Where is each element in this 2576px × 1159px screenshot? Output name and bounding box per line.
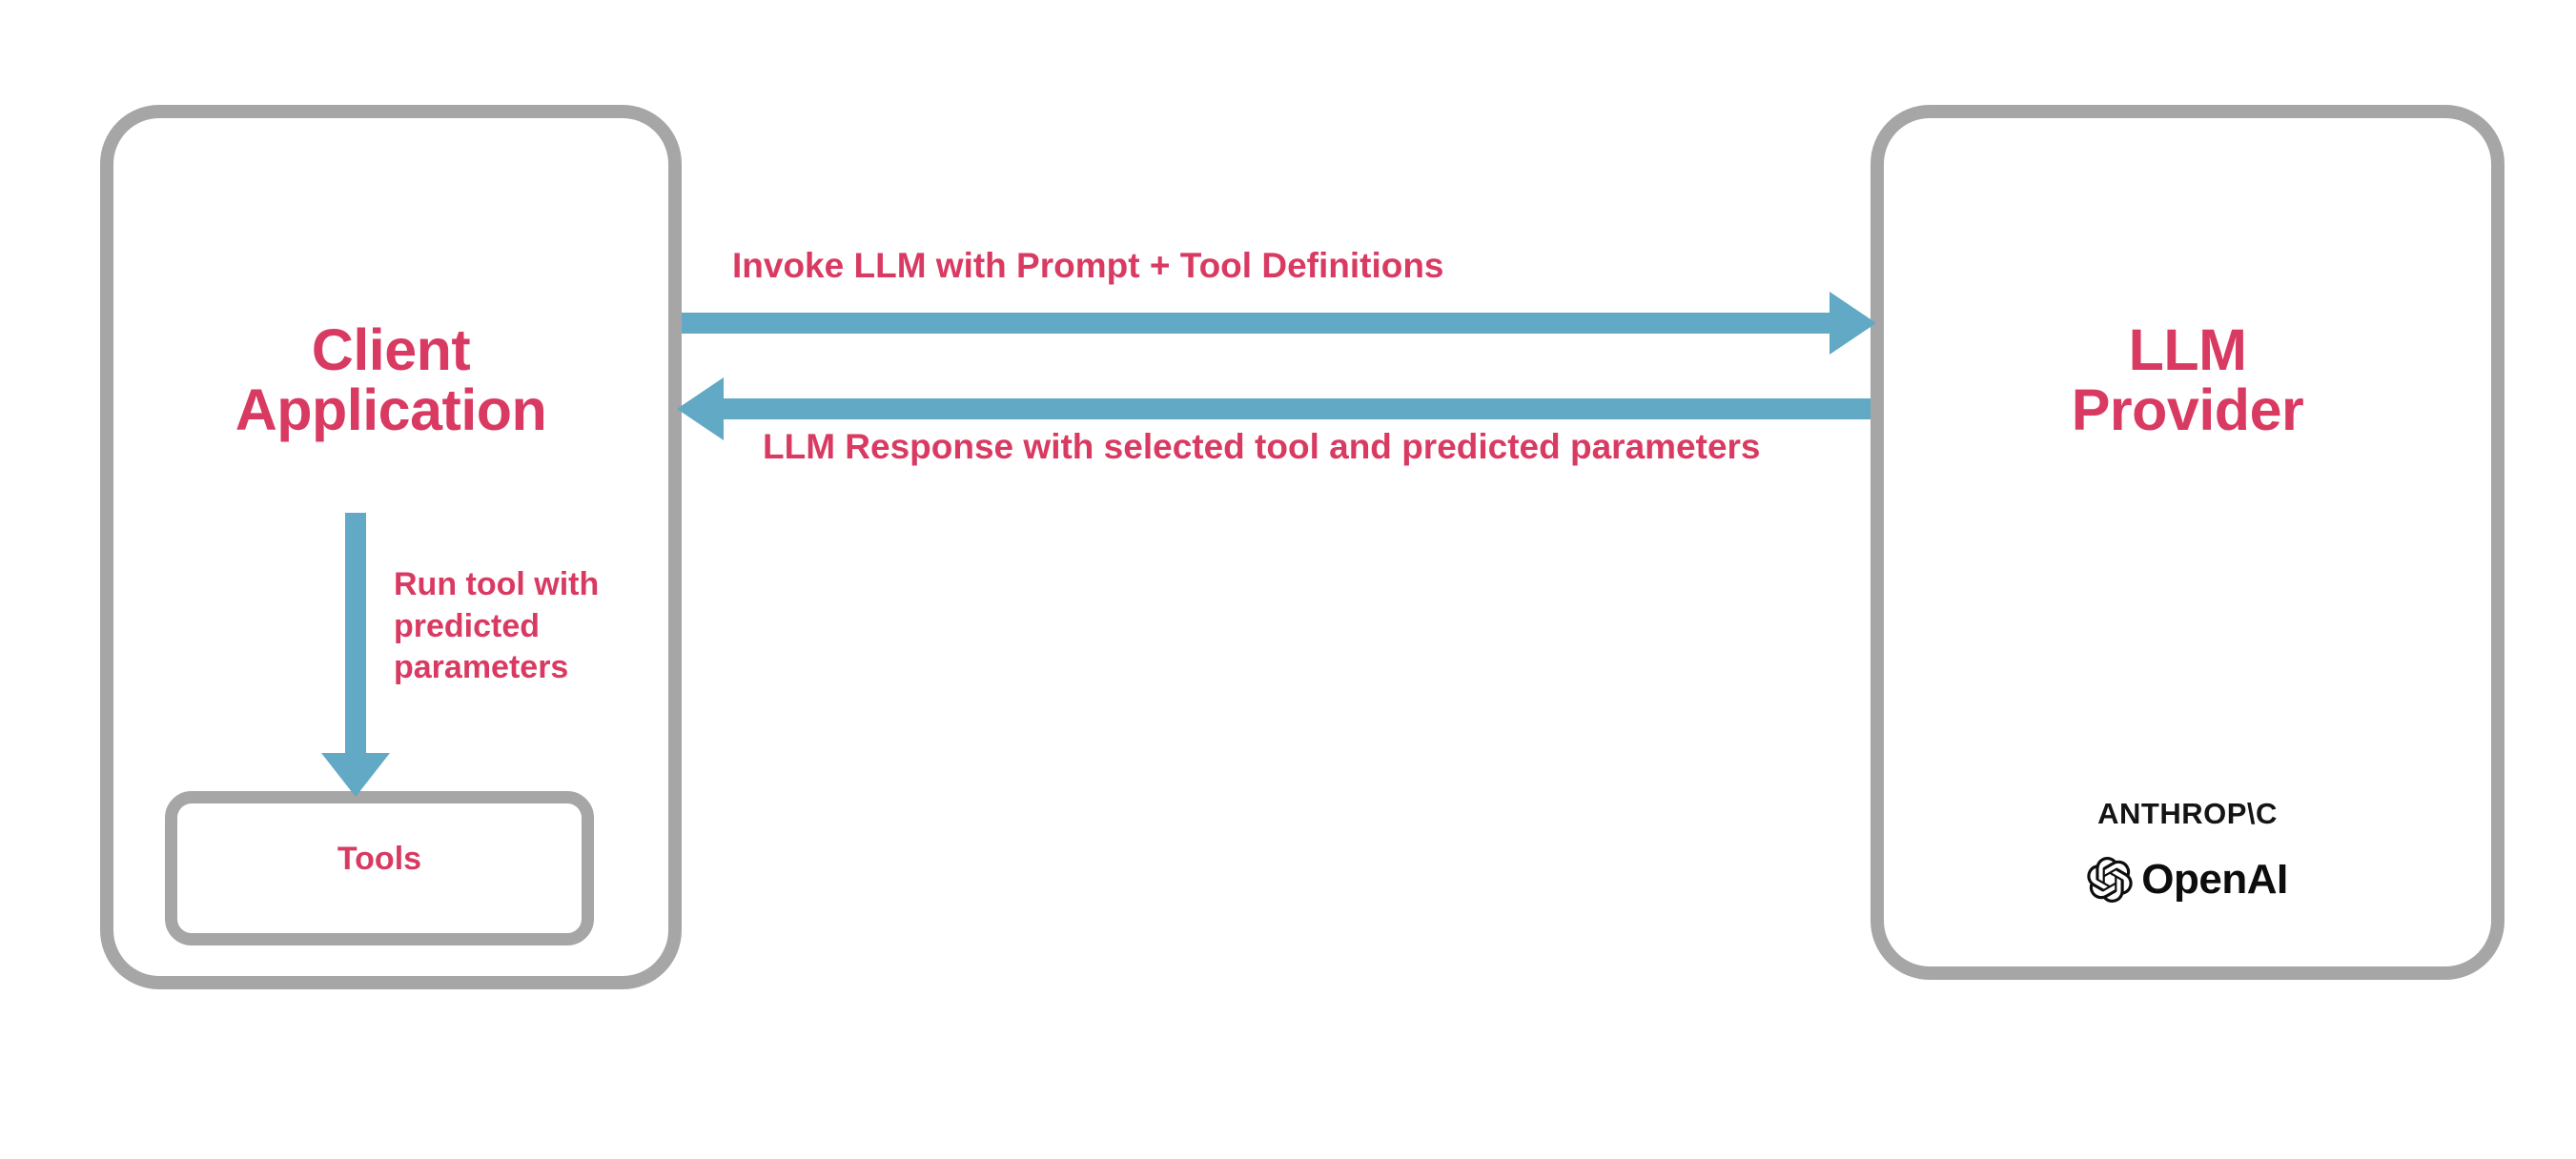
llm-provider-node[interactable] [1871, 105, 2504, 980]
diagram-canvas: Client Application Tools LLM Provider In… [0, 0, 2576, 1159]
invoke-arrow-label: Invoke LLM with Prompt + Tool Definition… [732, 246, 1444, 286]
tools-label: Tools [165, 841, 594, 878]
client-application-label: Client Application [100, 320, 682, 440]
openai-wordmark: OpenAI [2141, 856, 2287, 904]
response-arrow-label: LLM Response with selected tool and pred… [763, 427, 1761, 467]
run-tool-arrow-label: Run tool with predicted parameters [394, 564, 661, 689]
openai-flower-icon [2087, 857, 2133, 903]
invoke-arrow-icon [682, 292, 1876, 355]
anthropic-logo: ANTHROP\C [1871, 797, 2504, 831]
llm-provider-label: LLM Provider [1871, 320, 2504, 440]
openai-logo: OpenAI [1871, 856, 2504, 904]
